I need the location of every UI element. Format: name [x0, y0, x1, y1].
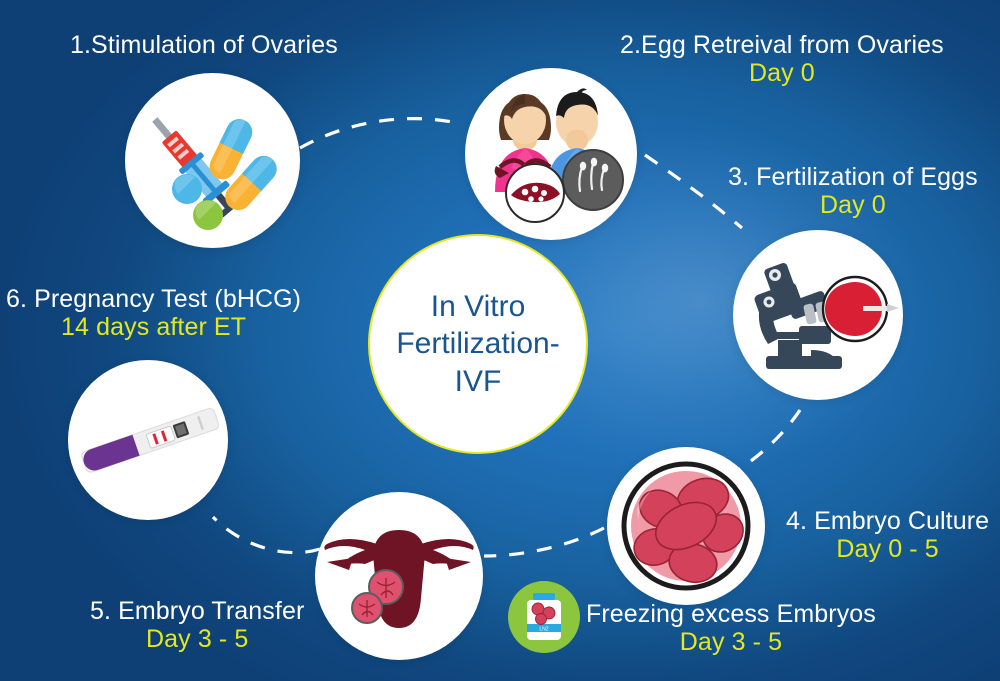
step-label-embryo-culture: 4. Embryo Culture Day 0 - 5 — [786, 507, 989, 563]
step-day-text: 14 days after ET — [6, 313, 301, 341]
center-title-line3: IVF — [396, 363, 559, 400]
step-bubble-embryo-transfer[interactable] — [315, 492, 483, 660]
step-label-text: Freezing excess Embryos — [586, 600, 876, 628]
center-title: In Vitro Fertilization- IVF — [396, 288, 559, 400]
step-label-fertilization: 3. Fertilization of Eggs Day 0 — [728, 163, 978, 219]
step-day-text: Day 0 — [620, 59, 944, 87]
step-bubble-pregnancy-test[interactable] — [68, 360, 228, 520]
cryo-tank-icon: LN2 — [522, 592, 566, 642]
connector-1-2 — [300, 119, 462, 148]
connector-5-6 — [213, 517, 320, 553]
step-bubble-stimulation[interactable] — [125, 73, 300, 248]
embryo-dish-icon — [607, 447, 765, 605]
center-title-line1: In Vitro — [396, 288, 559, 325]
svg-text:LN2: LN2 — [539, 627, 548, 633]
syringe-pills-icon — [125, 73, 300, 248]
step-label-embryo-transfer: 5. Embryo Transfer Day 3 - 5 — [90, 597, 304, 653]
center-title-line2: Fertilization- — [396, 325, 559, 362]
freezing-badge[interactable]: LN2 — [508, 581, 580, 653]
step-label-pregnancy-test: 6. Pregnancy Test (bHCG) 14 days after E… — [6, 285, 301, 341]
microscope-icon — [733, 230, 903, 400]
ivf-infographic: 1.Stimulation of Ovaries — [0, 0, 1000, 681]
pregnancy-test-icon — [68, 360, 228, 520]
egg-sample-circle — [506, 164, 564, 222]
step-label-text: 5. Embryo Transfer — [90, 597, 304, 625]
step-label-text: 1.Stimulation of Ovaries — [70, 31, 338, 59]
connector-4-5 — [484, 528, 604, 556]
step-label-text: 4. Embryo Culture — [786, 507, 989, 535]
step-label-text: 3. Fertilization of Eggs — [728, 163, 978, 191]
step-day-text: Day 0 - 5 — [786, 535, 989, 563]
step-bubble-embryo-culture[interactable] — [607, 447, 765, 605]
step-label-stimulation: 1.Stimulation of Ovaries — [70, 31, 338, 59]
step-bubble-fertilization[interactable] — [733, 230, 903, 400]
step-label-egg-retrieval: 2.Egg Retreival from Ovaries Day 0 — [620, 31, 944, 87]
step-label-text: 2.Egg Retreival from Ovaries — [620, 31, 944, 59]
step-day-text: Day 3 - 5 — [90, 625, 304, 653]
uterus-icon — [315, 492, 483, 660]
step-day-text: Day 3 - 5 — [586, 628, 876, 656]
sperm-sample-circle — [563, 150, 623, 210]
step-label-text: 6. Pregnancy Test (bHCG) — [6, 285, 301, 313]
step-bubble-egg-retrieval[interactable] — [465, 68, 637, 240]
step-day-text: Day 0 — [728, 191, 978, 219]
step-label-freezing: Freezing excess Embryos Day 3 - 5 — [586, 600, 876, 656]
icsi-circle — [823, 277, 899, 341]
center-title-circle: In Vitro Fertilization- IVF — [368, 234, 588, 454]
couple-icon — [465, 68, 637, 240]
